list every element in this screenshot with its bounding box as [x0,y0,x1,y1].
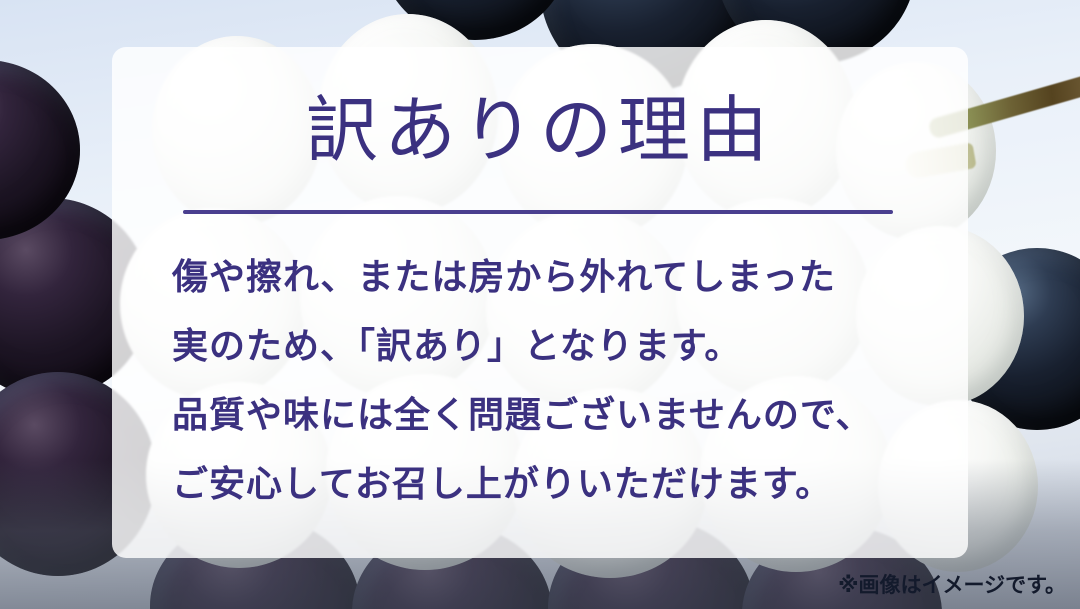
title-divider [183,210,893,214]
body-line: 傷や擦れ、または房から外れてしまった [172,242,932,311]
body-line: 品質や味には全く問題ございませんので、 [172,380,932,449]
promo-banner: 訳ありの理由 傷や擦れ、または房から外れてしまった 実のため、「訳あり」となりま… [0,0,1080,609]
body-line: 実のため、「訳あり」となります。 [172,311,932,380]
body-line: ご安心してお召し上がりいただけます。 [172,449,932,518]
image-disclaimer-note: ※画像はイメージです。 [838,569,1066,599]
content-card: 訳ありの理由 傷や擦れ、または房から外れてしまった 実のため、「訳あり」となりま… [112,47,968,558]
body-text-block: 傷や擦れ、または房から外れてしまった 実のため、「訳あり」となります。 品質や味… [172,242,932,518]
page-title: 訳ありの理由 [112,95,968,167]
